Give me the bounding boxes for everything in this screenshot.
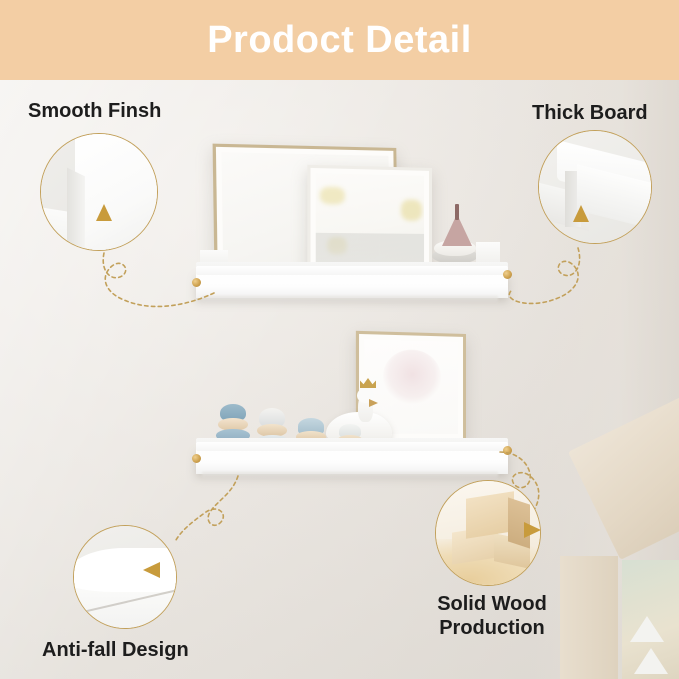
rabbit-art-canvas — [316, 173, 424, 270]
lower-shelf-shadow — [202, 472, 498, 479]
callout-label-anti-fall: Anti-fall Design — [42, 638, 189, 662]
pointer-arrow-icon — [96, 204, 112, 221]
pointer-arrow-icon — [143, 562, 160, 578]
detail-smooth-edge — [67, 168, 85, 251]
art-splotch — [401, 200, 422, 221]
sailboat-mast — [455, 204, 459, 220]
page-title: Prodoct Detail — [207, 19, 472, 62]
upper-shelf-shadow — [202, 296, 498, 303]
callout-label-smooth-finish: Smooth Finsh — [28, 99, 161, 123]
floral-art-wreath — [383, 349, 441, 404]
upper-shelf-front-face — [196, 273, 508, 298]
callout-circle-smooth-finish — [40, 133, 158, 251]
swan-figurine-beak — [369, 399, 378, 407]
lower-shelf-front-face — [196, 449, 508, 474]
lower-shelf-lip — [196, 442, 508, 451]
triangle-block — [630, 616, 664, 642]
triangle-block — [634, 648, 668, 674]
mounting-screw — [192, 454, 201, 463]
upper-shelf-lip — [196, 266, 508, 275]
callout-label-line-2: Production — [428, 616, 556, 640]
callout-label-line-1: Solid Wood — [428, 592, 556, 616]
detail-raised-lip — [73, 548, 177, 592]
pointer-arrow-icon — [524, 522, 541, 538]
upper-shelf — [196, 262, 508, 306]
mounting-screw — [503, 270, 512, 279]
callout-circle-thick-board — [538, 130, 652, 244]
mounting-screw — [192, 278, 201, 287]
detail-shelf-panel — [75, 133, 158, 251]
house-shelf-interior — [622, 560, 679, 679]
pointer-arrow-icon — [573, 205, 589, 222]
art-splotch — [320, 187, 344, 205]
framed-rabbit-art — [307, 165, 432, 278]
wood-block — [466, 491, 514, 539]
callout-label-solid-wood: Solid Wood Production — [428, 592, 556, 641]
header-banner: Prodoct Detail — [0, 0, 679, 80]
callout-circle-anti-fall — [73, 525, 177, 629]
product-detail-image: Prodoct Detail — [0, 0, 679, 679]
callout-label-thick-board: Thick Board — [532, 101, 648, 125]
mounting-screw — [503, 446, 512, 455]
lower-shelf — [196, 438, 508, 482]
house-shelf-wall — [560, 556, 618, 679]
